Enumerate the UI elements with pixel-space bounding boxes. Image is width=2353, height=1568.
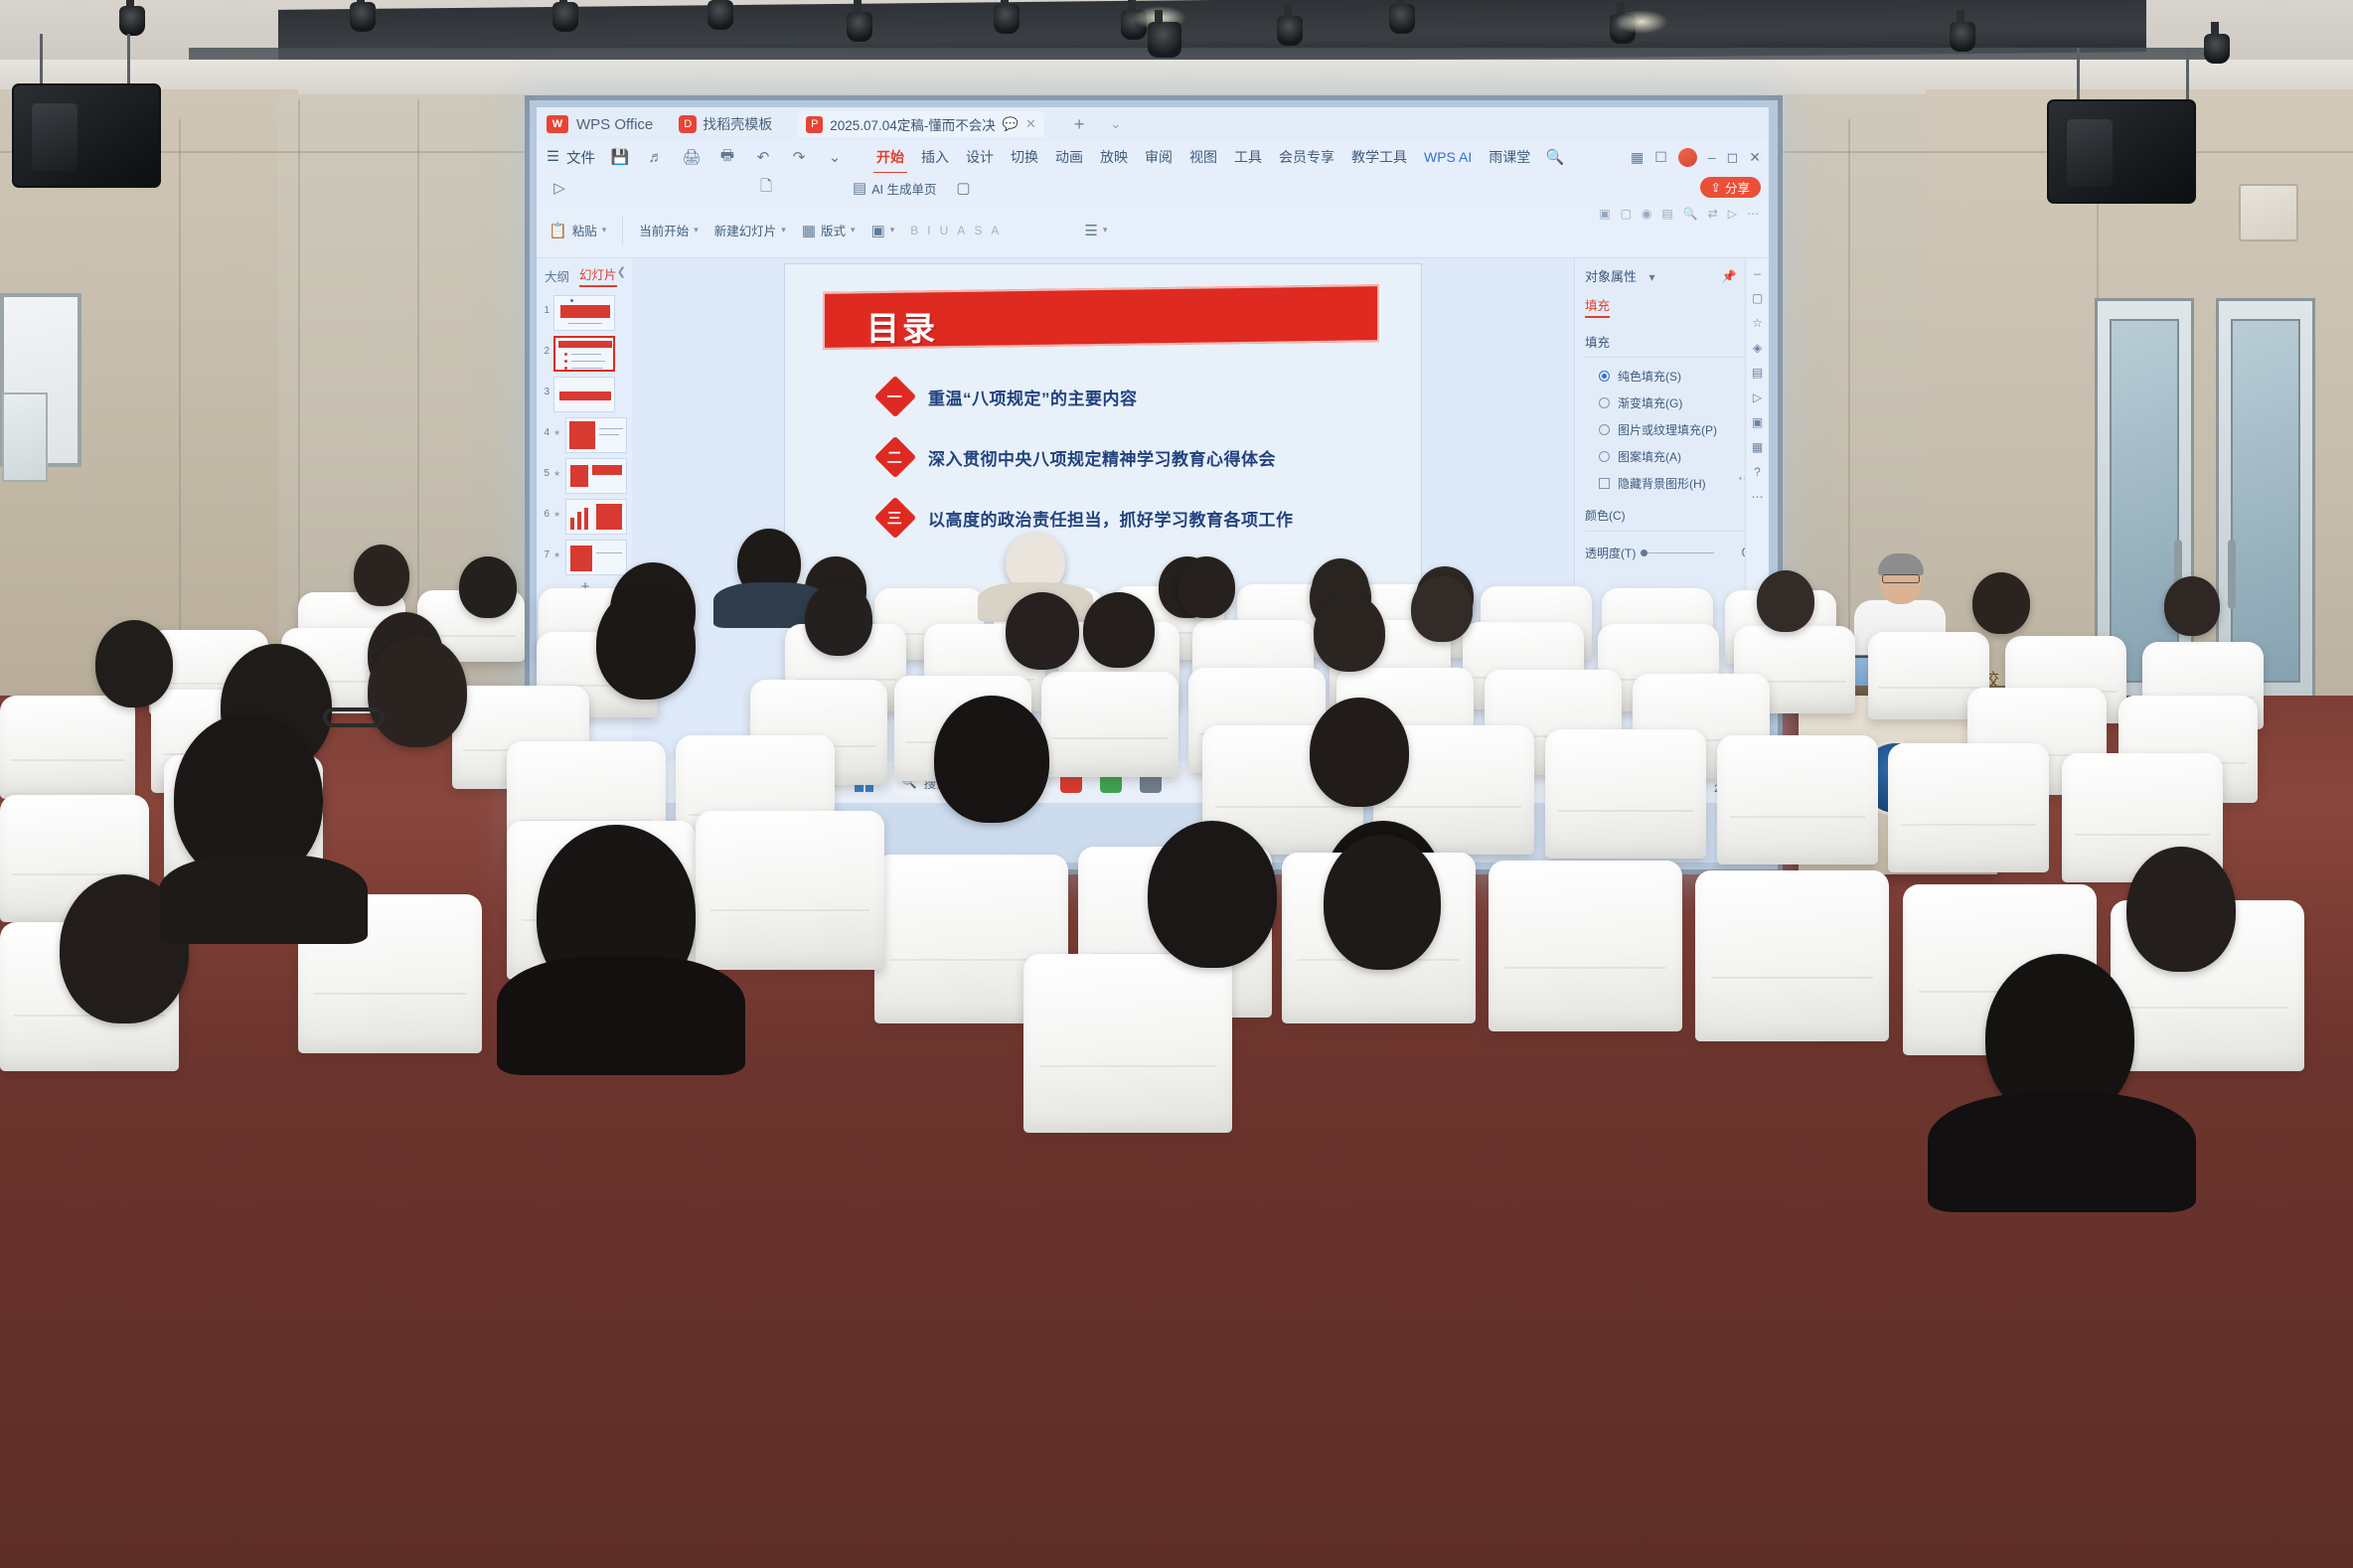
new-tab-icon[interactable]: + [1074, 114, 1085, 135]
shape-fill-icon[interactable]: ▣ [1599, 207, 1610, 221]
resource-icon[interactable]: ▣ [1752, 415, 1763, 429]
new-slide-button[interactable]: 新建幻灯片 ▾ [714, 221, 786, 239]
chair [1888, 743, 2049, 872]
chevron-left-icon[interactable]: ❮ [617, 265, 626, 278]
wps-logo: W WPS Office [547, 115, 653, 133]
divider [1585, 531, 1759, 532]
ribbon-right-tools: ▣ ▢ ◉ ▤ 🔍 ⇄ ▷ ⋯ [1545, 207, 1759, 221]
checkbox-icon[interactable] [1599, 478, 1610, 489]
share-label: 分享 [1725, 178, 1750, 197]
save-icon[interactable]: 💾 [609, 148, 631, 166]
record-icon[interactable]: ▢ [952, 179, 974, 197]
speaker-hanger [2077, 48, 2080, 107]
powerpoint-icon: P [806, 116, 823, 133]
thumbnail-preview[interactable] [553, 295, 615, 331]
pin-icon[interactable]: 📌 [1722, 269, 1737, 283]
audience-head [1148, 821, 1277, 968]
template-link[interactable]: D 找稻壳模板 [679, 114, 772, 134]
file-menu-button[interactable]: ☰ 文件 [547, 147, 595, 168]
ribbon-tab-review[interactable]: 审阅 [1142, 145, 1176, 169]
fill-option-solid[interactable]: 纯色填充(S) [1585, 368, 1759, 385]
track-light [847, 12, 872, 42]
slide-content-list: 一 重温“八项规定”的主要内容 二 深入贯彻中央八项规定精神学习教育心得体会 [880, 382, 1347, 563]
tab-slides[interactable]: 幻灯片 [579, 264, 617, 287]
hamburger-icon: ☰ [547, 149, 559, 165]
paste-icon: 📋 [549, 222, 567, 239]
fill-option-gradient[interactable]: 渐变填充(G) [1585, 394, 1759, 411]
align-button[interactable]: ☰ ▾ [1084, 222, 1107, 239]
thumbnail-preview[interactable] [553, 377, 615, 412]
item-marker-label: 三 [887, 507, 902, 528]
color-label: 颜色(C) [1585, 507, 1626, 524]
media-icon[interactable]: ▷ [1753, 391, 1762, 404]
find-icon[interactable]: 🔍 [1683, 207, 1698, 221]
thumbnail-item[interactable]: 6 ★ [541, 499, 630, 535]
presenter-glasses [1882, 574, 1920, 583]
fill-option-label: 渐变填充(G) [1618, 394, 1682, 411]
thumbnail-preview[interactable] [565, 458, 627, 494]
ribbon-tab-design[interactable]: 设计 [963, 145, 997, 169]
file-menu-label: 文件 [566, 147, 595, 168]
ai-generate-page-button[interactable]: ▤ AI 生成单页 [853, 179, 936, 198]
audience-head [1324, 835, 1441, 970]
wps-menu-row: ☰ 文件 💾 ♬ 🖨 🖶 ↶ ↷ ⌄ 开始 插入 设计 切换 动画 放映 审阅 [537, 141, 1769, 173]
audience-head [354, 545, 409, 606]
thumbnail-number: 3 [541, 377, 549, 397]
audience-shoulders [1928, 1093, 2196, 1212]
transparency-field[interactable]: 透明度(T) 0 % [1585, 545, 1759, 561]
star-icon[interactable]: ★ [553, 417, 561, 437]
door-glass [2110, 319, 2179, 683]
layout-icon: ▦ [802, 222, 816, 239]
item-marker-diamond: 一 [874, 376, 916, 417]
slide-title-banner[interactable]: 目录 [823, 284, 1379, 350]
item-marker-label: 一 [887, 386, 902, 406]
paste-label: 粘贴 [572, 221, 597, 239]
properties-tab-fill[interactable]: 填充 [1585, 295, 1610, 318]
fill-option-pattern[interactable]: 图案填充(A) [1585, 448, 1759, 465]
navigator-tabs: 大纲 幻灯片 ❮ [537, 258, 632, 291]
properties-title: 对象属性 [1585, 269, 1637, 284]
ribbon-tab-tools[interactable]: 工具 [1231, 145, 1265, 169]
shapes-icon[interactable]: ▢ [1752, 291, 1763, 305]
thumbnail-number: 5 [541, 458, 549, 479]
item-text: 以高度的政治责任担当，抓好学习教育各项工作 [928, 506, 1294, 531]
fill-section-label: 填充 [1585, 332, 1610, 351]
track-light [1389, 4, 1415, 34]
chevron-down-icon[interactable]: ▾ [694, 225, 699, 235]
audience-head [1177, 556, 1235, 618]
radio-icon[interactable] [1599, 424, 1610, 435]
section-icon: ▣ [871, 222, 885, 239]
chevron-down-icon[interactable]: ▾ [1648, 270, 1654, 284]
strikethrough-icon[interactable]: S [974, 224, 982, 237]
chair [1545, 729, 1706, 859]
item-marker-diamond: 二 [874, 436, 916, 478]
chair [1489, 861, 1682, 1031]
track-light [707, 0, 733, 30]
ceiling-light-glow [1615, 10, 1668, 34]
print-preview-icon[interactable]: 🖶 [716, 145, 738, 170]
ceiling-speaker-left [12, 83, 161, 188]
window-controls: ▦ ☐ – ◻ ✕ [1631, 141, 1761, 173]
new-slide-label: 新建幻灯片 [714, 221, 777, 239]
item-text: 重温“八项规定”的主要内容 [928, 385, 1138, 409]
bold-icon[interactable]: B [910, 224, 918, 237]
properties-header: 对象属性 ▾ 📌 ✕ [1585, 266, 1759, 286]
radio-icon[interactable] [1599, 451, 1610, 462]
thumbnail-number: 6 [541, 499, 549, 520]
fill-option-picture[interactable]: 图片或纹理填充(P) [1585, 421, 1759, 438]
ribbon-tab-animation[interactable]: 动画 [1052, 145, 1086, 169]
grid-icon[interactable]: ▦ [1631, 149, 1644, 166]
item-marker-diamond: 三 [874, 497, 916, 539]
minimize-panel-icon[interactable]: – [1754, 266, 1761, 280]
thumbnail-number: 4 [541, 417, 549, 438]
audience-head [1972, 572, 2030, 634]
ai-page-icon: ▤ [853, 179, 866, 197]
transparency-slider[interactable] [1644, 552, 1714, 553]
search-icon[interactable]: 🔍 [1544, 148, 1566, 166]
close-icon[interactable]: ✕ [1025, 116, 1036, 132]
radio-icon[interactable] [1599, 397, 1610, 408]
audience-head [95, 620, 173, 707]
chair [696, 811, 884, 970]
audience-head [1083, 592, 1155, 668]
ribbon-tab-member[interactable]: 会员专享 [1276, 145, 1337, 169]
minimize-icon[interactable]: – [1708, 149, 1716, 165]
track-light [2204, 34, 2230, 64]
wps-titlebar: W WPS Office D 找稻壳模板 P 2025.07.04定稿-懂而不会… [537, 107, 1769, 141]
fill-section-header[interactable]: 填充 ▾ [1585, 332, 1759, 351]
hide-background-graphics-option[interactable]: 隐藏背景图形(H) [1585, 475, 1759, 492]
chevron-down-icon[interactable]: ▾ [602, 225, 607, 235]
select-icon[interactable]: ▷ [1728, 207, 1737, 221]
font-color-icon[interactable]: A [991, 224, 999, 237]
comment-icon[interactable]: 💬 [1003, 116, 1019, 132]
speaker-hanger [2186, 48, 2189, 107]
chevron-down-icon[interactable]: ▾ [851, 225, 856, 235]
audience-shoulders [159, 855, 368, 944]
ribbon-tab-view[interactable]: 视图 [1186, 145, 1220, 169]
wps-ribbon-toolbar: 📋 粘贴 ▾ 当前开始 ▾ 新建幻灯片 ▾ ▦ 版式 ▾ [537, 203, 1769, 258]
audience-head [459, 556, 517, 618]
audience-head [934, 696, 1049, 823]
thumbnail-preview[interactable] [565, 417, 627, 453]
ribbon-tab-insert[interactable]: 插入 [918, 145, 952, 169]
audience-head [1757, 570, 1814, 632]
fill-option-label: 图片或纹理填充(P) [1618, 421, 1717, 438]
customize-chevron-down-icon[interactable]: ⌄ [824, 148, 846, 166]
section-button[interactable]: ▣ ▾ [871, 222, 895, 239]
slide-list-item[interactable]: 二 深入贯彻中央八项规定精神学习教育心得体会 [880, 442, 1347, 472]
track-light [1277, 16, 1303, 46]
audience-glasses [323, 707, 385, 727]
font-format-group: B I U A S A [910, 224, 999, 237]
close-icon[interactable]: ✕ [1749, 149, 1761, 166]
audience-head [805, 582, 872, 656]
thumbnail-item[interactable]: 2 [541, 336, 630, 372]
layout-label: 版式 [821, 221, 846, 239]
layout-button[interactable]: ▦ 版式 ▾ [802, 221, 856, 239]
ribbon-tab-strip: 开始 插入 设计 切换 动画 放映 审阅 视图 工具 会员专享 教学工具 WPS… [873, 145, 1566, 169]
audience-shoulders [497, 956, 745, 1075]
chart-icon[interactable]: ▤ [1752, 366, 1763, 380]
grid-icon[interactable]: ▦ [1752, 440, 1763, 454]
star-icon[interactable]: ☆ [1752, 316, 1763, 330]
cloud-sync-icon[interactable]: ♬ [645, 149, 667, 166]
audience-head [596, 588, 696, 700]
thumbnail-item[interactable]: 3 [541, 377, 630, 412]
wall-control-panel [2239, 184, 2298, 241]
tab-list-chevron-down-icon[interactable]: ⌄ [1110, 116, 1121, 132]
shape-outline-icon[interactable]: ▢ [1621, 207, 1632, 221]
wps-sub-bar: ▷ 🗋 ▤ AI 生成单页 ▢ ⇪ 分享 [537, 173, 1769, 203]
audience-head [1314, 594, 1385, 672]
template-icon: D [679, 115, 697, 133]
door-glass [2231, 319, 2300, 683]
from-start-label: 当前开始 [639, 221, 689, 239]
slide-thumbnail-list: 1 2 [537, 291, 632, 596]
design-icon[interactable]: ◈ [1753, 341, 1762, 355]
item-text: 深入贯彻中央八项规定精神学习教育心得体会 [928, 445, 1276, 470]
thumbnail-number: 7 [541, 540, 549, 560]
audience-head [1310, 698, 1409, 807]
thumbnail-item[interactable]: 7 ★ [541, 540, 630, 575]
chair [1717, 735, 1878, 864]
arrange-icon[interactable]: ▤ [1661, 207, 1672, 221]
thumbnail-preview-active[interactable] [553, 336, 615, 372]
document-tab[interactable]: P 2025.07.04定稿-懂而不会决 💬 ✕ [798, 111, 1044, 137]
more-dots-icon[interactable]: ⋯ [1752, 490, 1764, 504]
underline-icon[interactable]: U [940, 224, 949, 237]
wps-logo-icon: W [547, 115, 568, 133]
chevron-down-icon[interactable]: ▾ [890, 225, 895, 235]
side-display [2, 392, 48, 482]
chair [1023, 954, 1232, 1133]
fill-option-label: 图案填充(A) [1618, 448, 1681, 465]
radio-icon[interactable] [1599, 371, 1610, 382]
fill-option-label: 纯色填充(S) [1618, 368, 1681, 385]
transparency-label: 透明度(T) [1585, 545, 1636, 561]
door-handle[interactable] [2228, 540, 2236, 609]
restore-icon[interactable]: ◻ [1727, 149, 1739, 166]
chair [1041, 672, 1178, 777]
share-icon: ⇪ [1711, 180, 1721, 195]
ribbon-tab-teaching[interactable]: 教学工具 [1348, 145, 1410, 169]
track-light [350, 2, 376, 32]
ribbon-tab-wps-ai[interactable]: WPS AI [1421, 147, 1475, 167]
play-from-start-icon[interactable]: ▷ [549, 179, 570, 197]
app-name: WPS Office [576, 116, 653, 133]
chair [0, 696, 135, 799]
help-icon[interactable]: ? [1754, 465, 1761, 479]
chair [1695, 870, 1889, 1041]
thumbnail-number: 1 [541, 295, 549, 316]
lecture-hall-scene: W WPS Office D 找稻壳模板 P 2025.07.04定稿-懂而不会… [0, 0, 2353, 1568]
share-button[interactable]: ⇪ 分享 [1700, 177, 1762, 198]
note-icon[interactable]: ☐ [1654, 149, 1667, 166]
new-slide-small-icon[interactable]: 🗋 [755, 176, 777, 201]
ai-page-label: AI 生成单页 [871, 179, 936, 198]
ribbon-divider [622, 216, 623, 245]
thumbnail-item[interactable]: 1 [541, 295, 630, 331]
track-light [994, 4, 1020, 34]
tab-outline[interactable]: 大纲 [545, 266, 569, 285]
track-light [552, 2, 578, 32]
ribbon-tab-home[interactable]: 开始 [873, 145, 907, 169]
document-tab-title: 2025.07.04定稿-懂而不会决 [830, 114, 996, 134]
ribbon-tab-rainclass[interactable]: 雨课堂 [1486, 145, 1533, 169]
chevron-down-icon[interactable]: ▾ [1103, 225, 1108, 235]
paste-button[interactable]: 📋 粘贴 ▾ [549, 221, 606, 239]
more-dots-icon[interactable]: ⋯ [1747, 207, 1759, 221]
projector-mount [1148, 22, 1181, 58]
align-icon: ☰ [1084, 222, 1097, 239]
template-link-label: 找稻壳模板 [703, 114, 772, 134]
audience-head [1006, 592, 1079, 670]
audience-head [2126, 847, 2236, 972]
shadow-icon[interactable]: A [957, 224, 965, 237]
slide-list-item[interactable]: 一 重温“八项规定”的主要内容 [880, 382, 1347, 411]
thumbnail-item[interactable]: 4 ★ [541, 417, 630, 453]
ribbon-tab-transition[interactable]: 切换 [1008, 145, 1041, 169]
thumbnail-item[interactable]: 5 ★ [541, 458, 630, 494]
thumbnail-preview[interactable] [565, 540, 627, 575]
ribbon-tab-slideshow[interactable]: 放映 [1097, 145, 1131, 169]
undo-icon[interactable]: ↶ [752, 148, 774, 166]
track-light [119, 6, 145, 36]
star-icon[interactable]: ★ [553, 499, 561, 519]
presenter-hair [1878, 553, 1924, 575]
avatar[interactable] [1678, 148, 1697, 167]
thumbnail-number: 2 [541, 336, 549, 357]
redo-icon[interactable]: ↷ [788, 148, 810, 166]
color-field[interactable]: 颜色(C) ▾ [1585, 505, 1759, 525]
print-icon[interactable]: 🖨 [681, 148, 703, 166]
replace-icon[interactable]: ⇄ [1708, 207, 1718, 221]
audience-head [368, 636, 467, 747]
present-from-current-button[interactable]: 当前开始 ▾ [639, 221, 699, 239]
track-light [1950, 22, 1975, 52]
audience-head [1411, 576, 1473, 642]
star-icon[interactable]: ★ [553, 458, 561, 478]
audience-head [2164, 576, 2220, 636]
ceiling-speaker-right [2047, 99, 2196, 204]
fill-option-label: 隐藏背景图形(H) [1618, 475, 1706, 492]
italic-icon[interactable]: I [927, 224, 930, 237]
divider [1585, 357, 1759, 358]
shape-effect-icon[interactable]: ◉ [1642, 207, 1651, 221]
star-icon[interactable]: ★ [553, 540, 561, 559]
thumbnail-preview[interactable] [565, 499, 627, 535]
chevron-down-icon[interactable]: ▾ [781, 225, 786, 235]
wall-seam [179, 119, 181, 706]
slide-title: 目录 [866, 302, 938, 350]
slide-list-item[interactable]: 三 以高度的政治责任担当，抓好学习教育各项工作 [880, 503, 1347, 533]
item-marker-label: 二 [887, 446, 902, 467]
